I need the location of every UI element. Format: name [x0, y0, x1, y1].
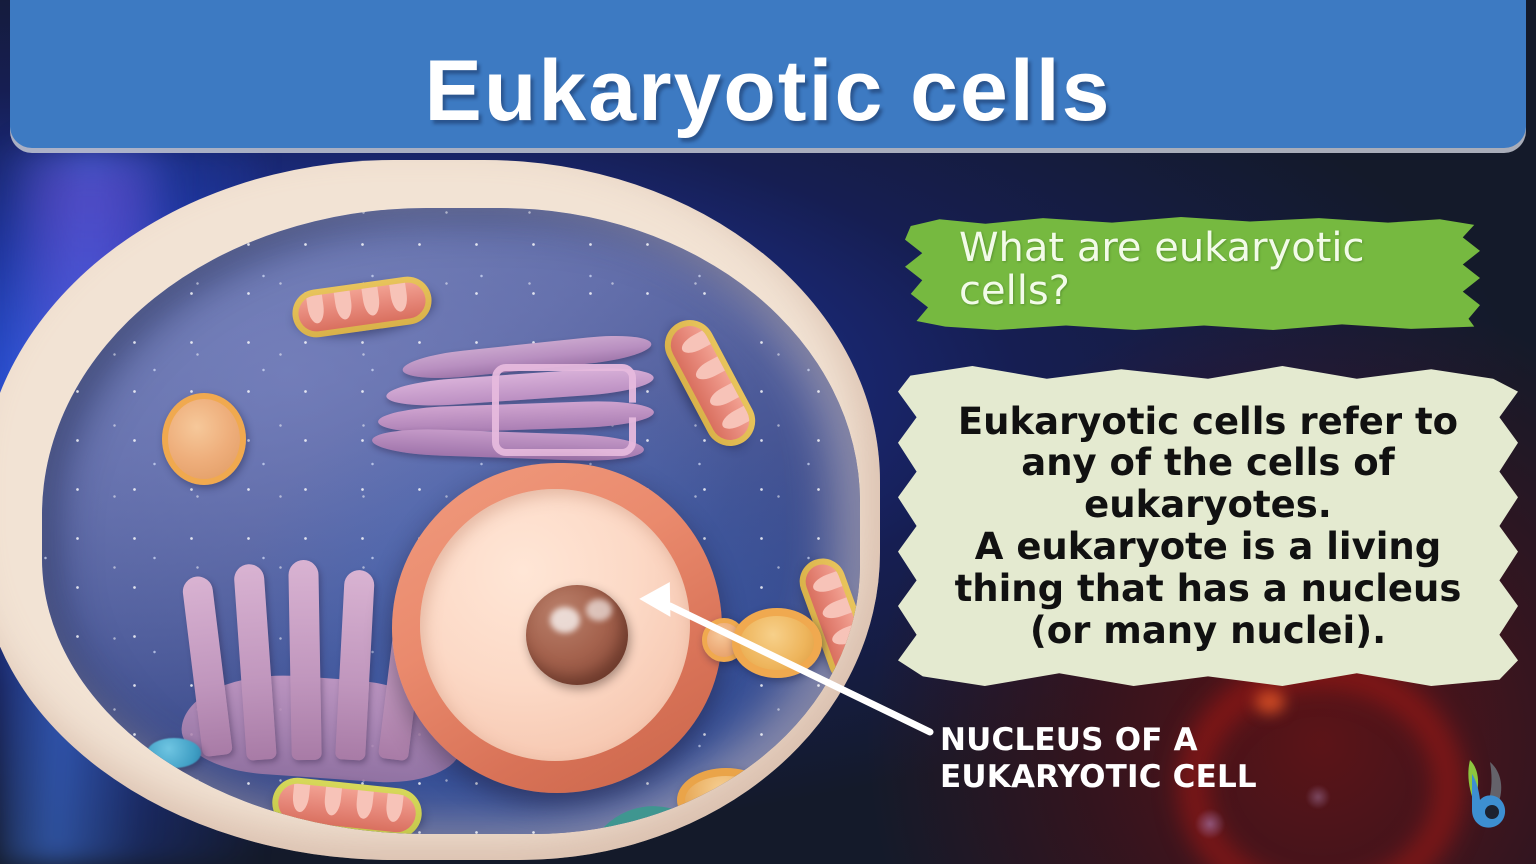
- definition-line: thing that has a nucleus: [955, 568, 1462, 610]
- callout-label: NUCLEUS OF A EUKARYOTIC CELL: [940, 722, 1360, 795]
- nucleolus: [526, 585, 628, 685]
- page-title: Eukaryotic cells: [425, 48, 1112, 134]
- nucleolus-highlight: [550, 607, 580, 633]
- question-box: What are eukaryotic cells?: [905, 217, 1480, 330]
- infographic-page: Eukaryotic cells What are eukaryotic cel…: [0, 0, 1536, 864]
- ser-fold: [288, 560, 321, 760]
- definition-text: Eukaryotic cells refer toany of the cell…: [955, 401, 1462, 652]
- arrow-line: [670, 606, 930, 732]
- definition-line: any of the cells of: [955, 442, 1462, 484]
- vesicle: [162, 393, 246, 485]
- title-banner: Eukaryotic cells: [10, 0, 1526, 148]
- definition-line: A eukaryote is a living: [955, 526, 1462, 568]
- nucleolus-highlight: [586, 599, 612, 621]
- definition-box: Eukaryotic cells refer toany of the cell…: [898, 366, 1518, 686]
- definition-line: eukaryotes.: [955, 484, 1462, 526]
- vesicle: [147, 738, 201, 768]
- background-red-glow-spot: [1255, 690, 1285, 714]
- eukaryotic-cell-illustration: [0, 150, 940, 864]
- golgi-apparatus: [372, 338, 682, 478]
- callout-label-line2: EUKARYOTIC CELL: [940, 759, 1360, 796]
- crista: [291, 782, 310, 813]
- vesicle: [677, 768, 775, 832]
- question-text: What are eukaryotic cells?: [959, 227, 1450, 313]
- callout-arrow: [630, 580, 960, 750]
- crista: [388, 280, 409, 312]
- callout-label-line1: NUCLEUS OF A: [940, 722, 1360, 759]
- logo-spiral-hole: [1485, 805, 1499, 819]
- biology-online-logo[interactable]: [1446, 756, 1518, 834]
- definition-line: Eukaryotic cells refer to: [955, 401, 1462, 443]
- cell-membrane: [0, 160, 880, 860]
- definition-line: (or many nuclei).: [955, 610, 1462, 652]
